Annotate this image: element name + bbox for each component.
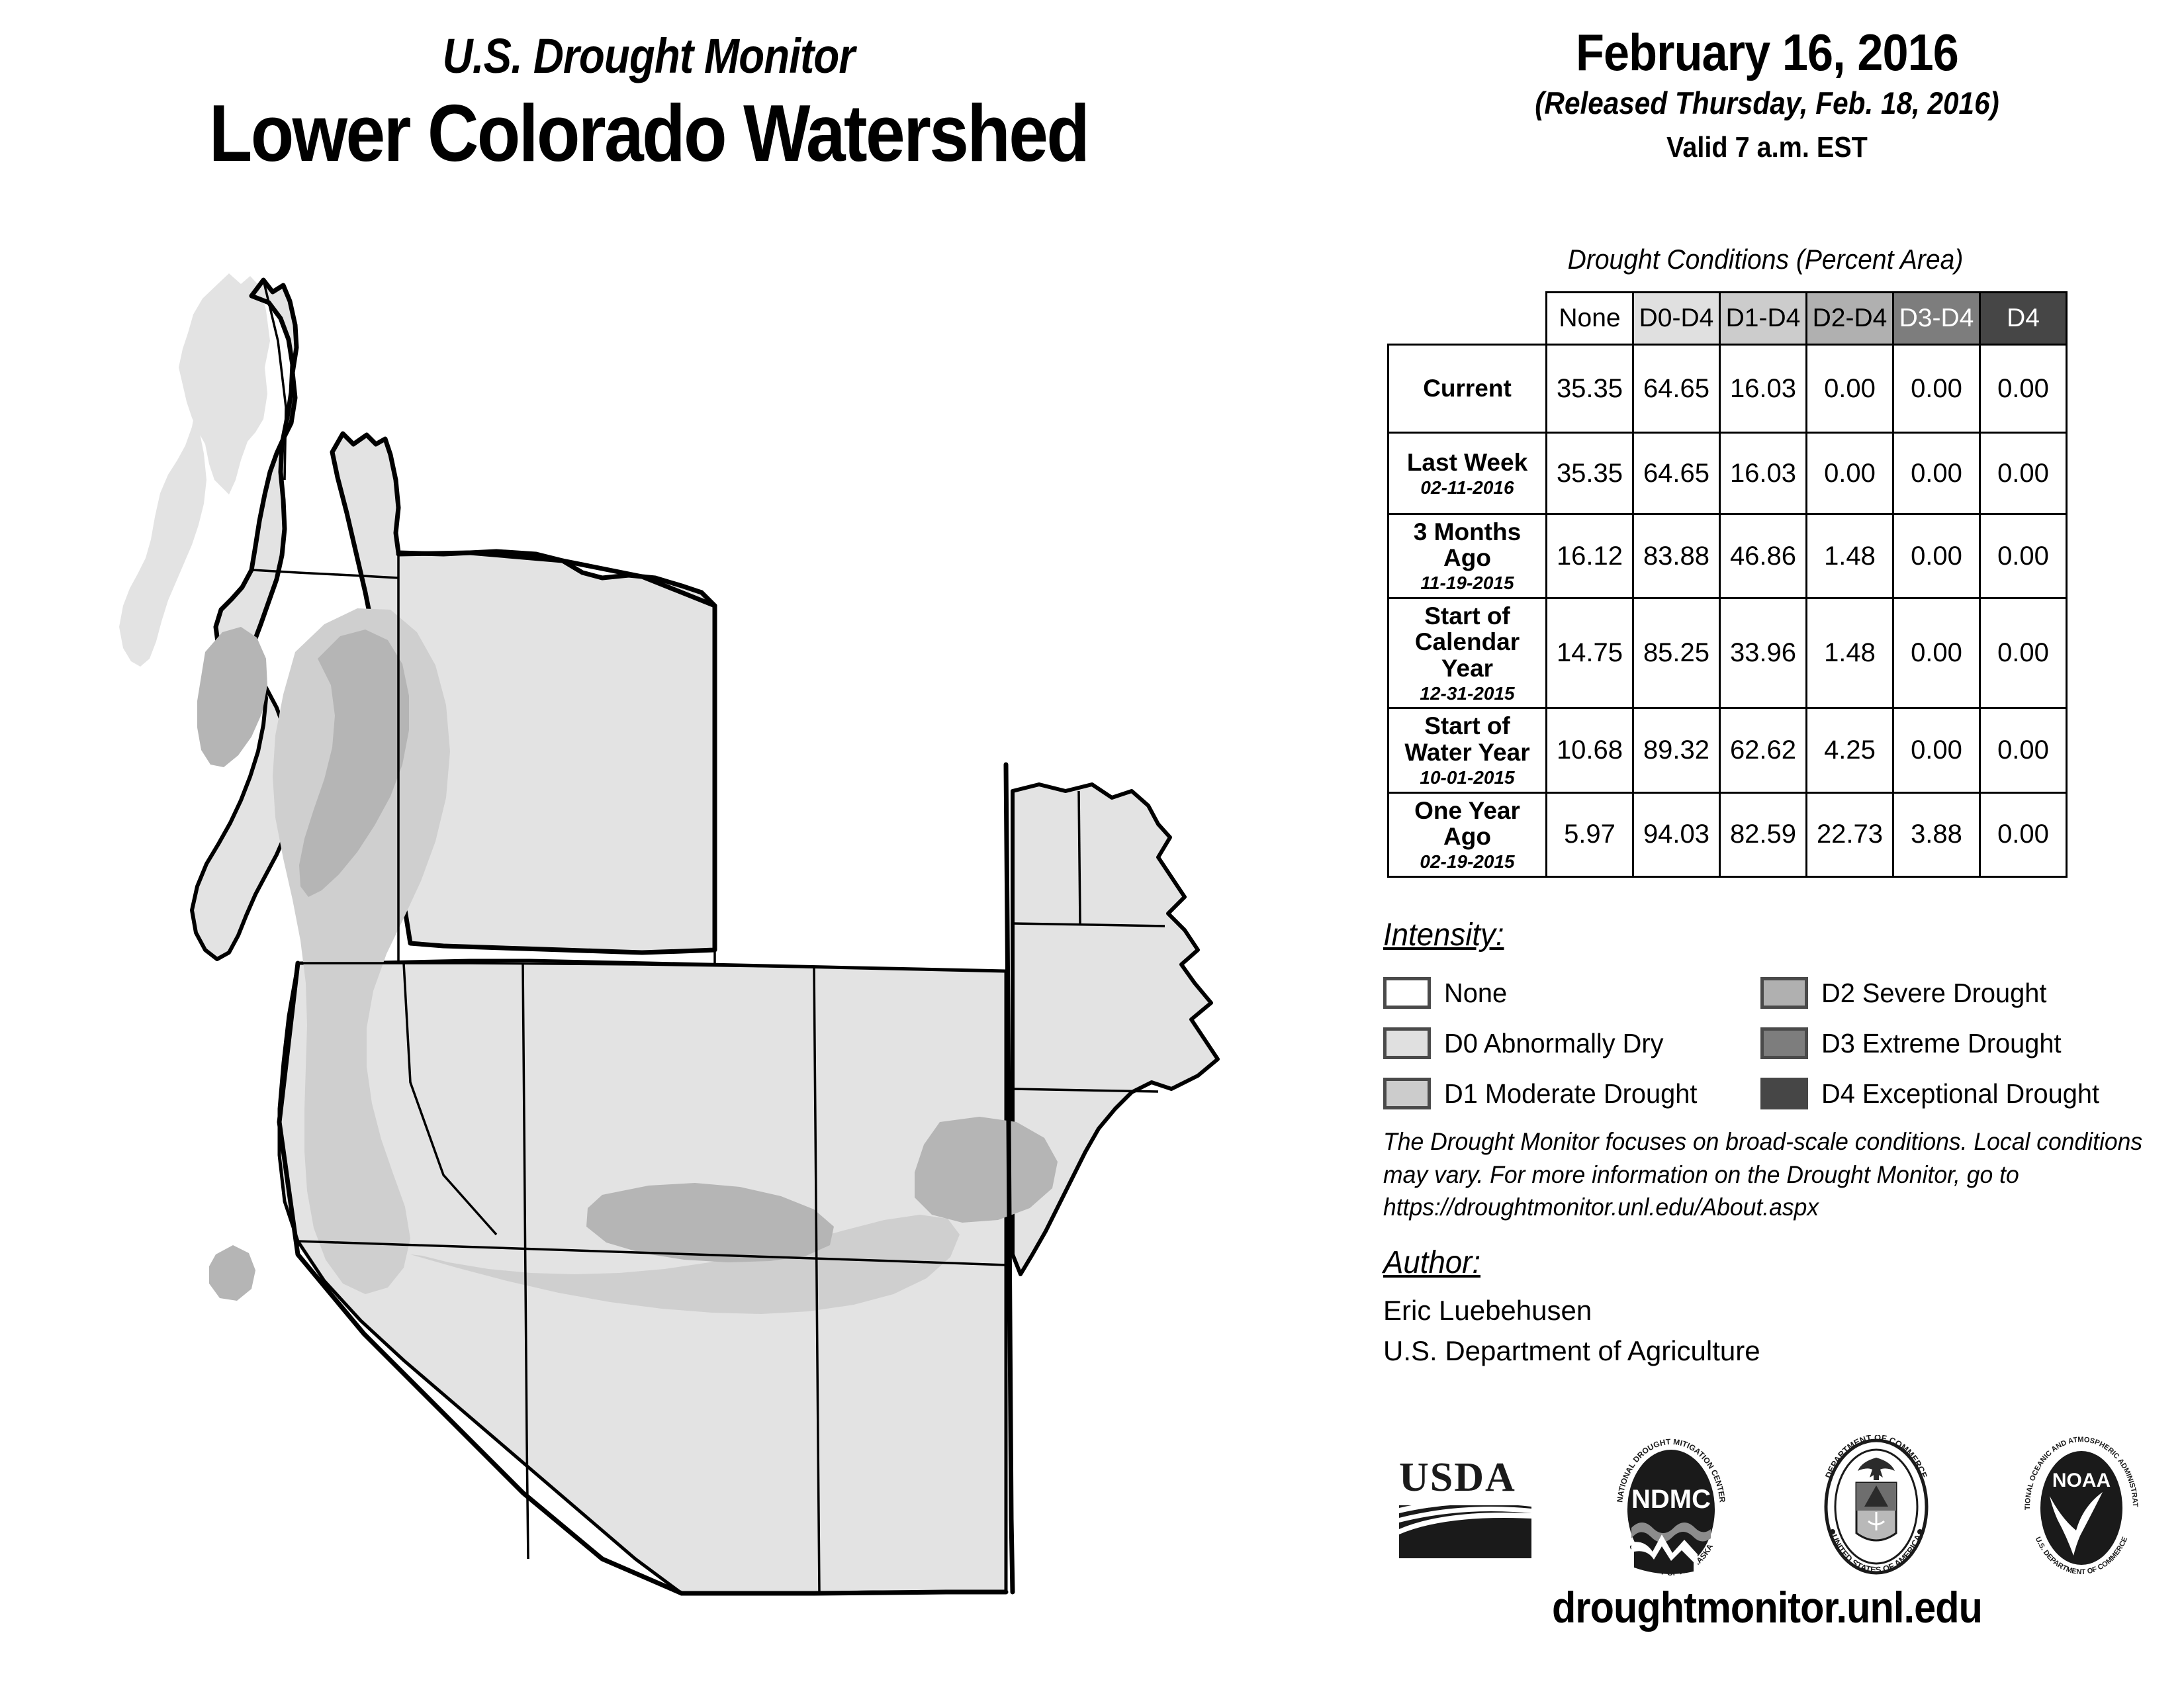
swatch-d0-icon [1383,1027,1431,1059]
column-header-d3d4: D3-D4 [1893,293,1980,345]
valid-time: Valid 7 a.m. EST [1392,133,2142,162]
column-header-none: None [1547,293,1633,345]
legend-label: D0 Abnormally Dry [1444,1028,1664,1059]
row-label-current: Current [1388,345,1547,433]
cell-d2d4: 22.73 [1807,792,1893,876]
region-east-nm [1013,784,1218,1274]
row-label-start-of-calendar-year: Start of Calendar Year 12-31-2015 [1388,598,1547,708]
cell-d3d4: 0.00 [1893,514,1980,598]
cell-d4: 0.00 [1980,433,2067,514]
watershed-geometry [154,275,1251,1645]
row-date: 12-31-2015 [1392,684,1543,704]
cell-d1d4: 16.03 [1720,345,1807,433]
cell-d1d4: 33.96 [1720,598,1807,708]
author-heading: Author: [1383,1244,1480,1281]
legend-label: D4 Exceptional Drought [1821,1078,2099,1109]
legend-label: D2 Severe Drought [1821,978,2046,1009]
cell-d4: 0.00 [1980,708,2067,792]
row-label-start-of-water-year: Start of Water Year 10-01-2015 [1388,708,1547,792]
drought-conditions-table: None D0-D4 D1-D4 D2-D4 D3-D4 D4 Current … [1387,291,2068,878]
cell-none: 10.68 [1547,708,1633,792]
swatch-d3-icon [1760,1027,1808,1059]
swatch-d1-icon [1383,1078,1431,1109]
cell-d2d4: 1.48 [1807,598,1893,708]
cell-d2d4: 0.00 [1807,345,1893,433]
cell-d4: 0.00 [1980,514,2067,598]
cell-d0d4: 64.65 [1633,433,1720,514]
author-agency: U.S. Department of Agriculture [1383,1331,1760,1372]
title-block: U.S. Drought Monitor Lower Colorado Wate… [0,32,1297,177]
cell-d1d4: 46.86 [1720,514,1807,598]
swatch-none-icon [1383,977,1431,1009]
legend-item-d0: D0 Abnormally Dry [1383,1027,1760,1059]
disclaimer-text: The Drought Monitor focuses on broad-sca… [1383,1125,2152,1224]
ndmc-logo: NATIONAL DROUGHT MITIGATION CENTER UNIVE… [1595,1433,1747,1579]
table-row: Last Week 02-11-2016 35.35 64.65 16.03 0… [1388,433,2067,514]
cell-d3d4: 0.00 [1893,345,1980,433]
svg-text:NOAA: NOAA [2052,1470,2111,1491]
row-date: 10-01-2015 [1392,768,1543,788]
cell-d0d4: 85.25 [1633,598,1720,708]
row-title: One Year Ago [1392,798,1543,849]
legend-item-d1: D1 Moderate Drought [1383,1078,1760,1109]
cell-none: 5.97 [1547,792,1633,876]
usda-logo: USDA [1390,1433,1542,1579]
legend-label: D1 Moderate Drought [1444,1078,1697,1109]
left-panel: U.S. Drought Monitor Lower Colorado Wate… [0,0,1350,1688]
cell-d0d4: 83.88 [1633,514,1720,598]
table-row: 3 Months Ago 11-19-2015 16.12 83.88 46.8… [1388,514,2067,598]
row-title: Start of Calendar Year [1392,603,1543,681]
row-title: Current [1392,375,1543,401]
cell-d0d4: 94.03 [1633,792,1720,876]
footer-url: droughtmonitor.unl.edu [1392,1582,2142,1632]
page-title: Lower Colorado Watershed [78,90,1220,177]
map-svg[interactable] [99,261,1297,1678]
row-date: 11-19-2015 [1392,573,1543,593]
county-line-10 [1079,791,1080,923]
doc-seal: DEPARTMENT OF COMMERCE UNITED STATES OF … [1800,1433,1952,1579]
drought-map[interactable] [99,261,1297,1678]
header-spacer [1388,293,1547,345]
cell-d4: 0.00 [1980,792,2067,876]
cell-d0d4: 64.65 [1633,345,1720,433]
swatch-d4-icon [1760,1078,1808,1109]
legend-item-d4: D4 Exceptional Drought [1760,1078,2177,1109]
legend-item-d3: D3 Extreme Drought [1760,1027,2177,1059]
table-row: Current 35.35 64.65 16.03 0.00 0.00 0.00 [1388,345,2067,433]
intensity-heading: Intensity: [1383,917,1504,953]
row-date: 02-19-2015 [1392,852,1543,872]
cell-d2d4: 4.25 [1807,708,1893,792]
table-row: One Year Ago 02-19-2015 5.97 94.03 82.59… [1388,792,2067,876]
table-row: Start of Calendar Year 12-31-2015 14.75 … [1388,598,2067,708]
legend-label: D3 Extreme Drought [1821,1028,2062,1059]
cell-none: 35.35 [1547,345,1633,433]
state-line-az-south [682,1592,1006,1593]
cell-d1d4: 62.62 [1720,708,1807,792]
report-date: February 16, 2016 [1392,26,2142,78]
logo-row: USDA NATIONAL DROUGHT MITIGATION CENTER [1363,1430,2184,1582]
table-row: Start of Water Year 10-01-2015 10.68 89.… [1388,708,2067,792]
cell-d4: 0.00 [1980,345,2067,433]
legend-item-d2: D2 Severe Drought [1760,977,2177,1009]
cell-d4: 0.00 [1980,598,2067,708]
cell-d3d4: 0.00 [1893,433,1980,514]
cell-d3d4: 0.00 [1893,598,1980,708]
date-block: February 16, 2016 (Released Thursday, Fe… [1350,26,2184,162]
cell-none: 35.35 [1547,433,1633,514]
cell-d0d4: 89.32 [1633,708,1720,792]
row-title: Last Week [1392,449,1543,475]
cell-d3d4: 3.88 [1893,792,1980,876]
row-label-3-months-ago: 3 Months Ago 11-19-2015 [1388,514,1547,598]
cell-d1d4: 82.59 [1720,792,1807,876]
row-title: 3 Months Ago [1392,519,1543,571]
legend-label: None [1444,978,1507,1009]
svg-text:NDMC: NDMC [1631,1485,1711,1514]
cell-none: 16.12 [1547,514,1633,598]
cell-none: 14.75 [1547,598,1633,708]
column-header-d2d4: D2-D4 [1807,293,1893,345]
row-title: Start of Water Year [1392,713,1543,765]
cell-d1d4: 16.03 [1720,433,1807,514]
table-header-row: None D0-D4 D1-D4 D2-D4 D3-D4 D4 [1388,293,2067,345]
cell-d2d4: 1.48 [1807,514,1893,598]
cell-d3d4: 0.00 [1893,708,1980,792]
program-title: U.S. Drought Monitor [91,32,1206,81]
intensity-legend: None D2 Severe Drought D0 Abnormally Dry… [1383,968,2177,1119]
svg-text:USDA: USDA [1399,1455,1516,1500]
right-panel: February 16, 2016 (Released Thursday, Fe… [1350,0,2184,1688]
column-header-d0d4: D0-D4 [1633,293,1720,345]
table-caption: Drought Conditions (Percent Area) [1379,244,2152,275]
column-header-d1d4: D1-D4 [1720,293,1807,345]
row-label-one-year-ago: One Year Ago 02-19-2015 [1388,792,1547,876]
swatch-d2-icon [1760,977,1808,1009]
release-date: (Released Thursday, Feb. 18, 2016) [1392,87,2142,118]
column-header-d4: D4 [1980,293,2067,345]
author-block: Eric Luebehusen U.S. Department of Agric… [1383,1291,1760,1372]
row-label-last-week: Last Week 02-11-2016 [1388,433,1547,514]
legend-item-none: None [1383,977,1760,1009]
author-name: Eric Luebehusen [1383,1291,1760,1331]
cell-d2d4: 0.00 [1807,433,1893,514]
noaa-logo: NATIONAL OCEANIC AND ATMOSPHERIC ADMINIS… [2005,1433,2158,1579]
row-date: 02-11-2016 [1392,478,1543,498]
